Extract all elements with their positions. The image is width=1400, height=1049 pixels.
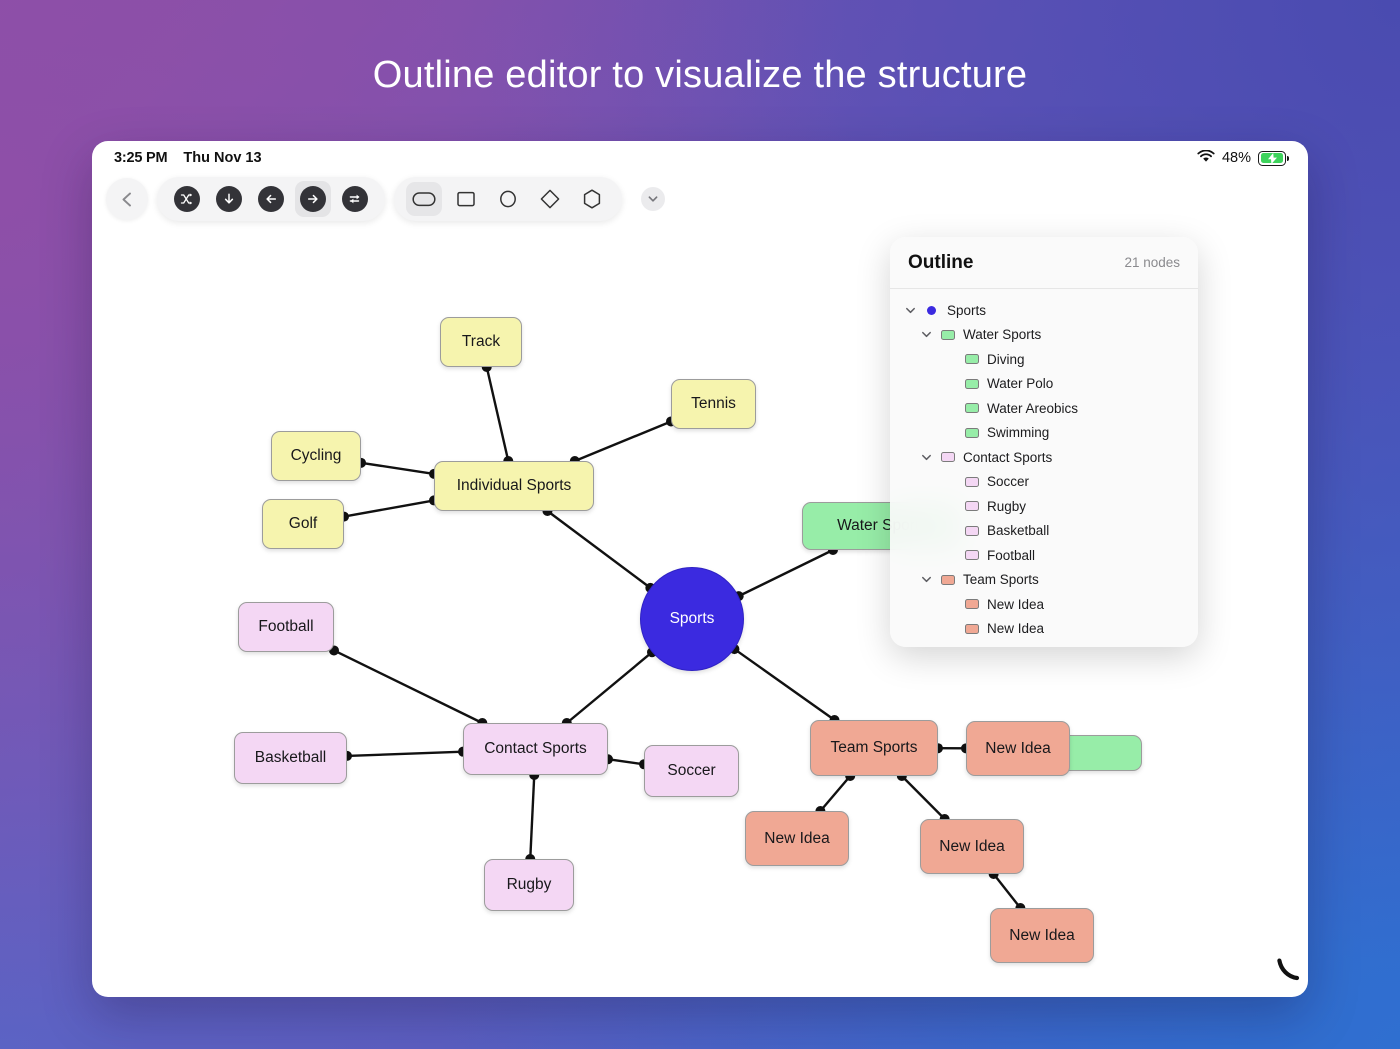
mindmap-node[interactable]: Sports [640, 567, 744, 671]
outline-color-swatch-icon [965, 501, 979, 511]
outline-title: Outline [908, 252, 973, 274]
outline-row-label: Water Areobics [987, 402, 1078, 416]
status-date: Thu Nov 13 [183, 150, 261, 166]
outline-row-label: Swimming [987, 426, 1049, 440]
outline-row-label: Contact Sports [963, 451, 1052, 465]
outline-color-swatch-icon [965, 526, 979, 536]
mindmap-node[interactable]: Team Sports [810, 720, 938, 776]
outline-color-swatch-icon [965, 477, 979, 487]
outline-node-count: 21 nodes [1124, 255, 1180, 270]
mindmap-node[interactable]: Basketball [234, 732, 347, 784]
outline-row-label: Water Sports [963, 328, 1041, 342]
outline-row[interactable]: Sports [890, 298, 1198, 323]
outline-color-swatch-icon [965, 354, 979, 364]
mindmap-edge [334, 650, 482, 723]
outline-color-swatch-icon [941, 330, 955, 340]
outline-color-swatch-icon [965, 599, 979, 609]
outline-row[interactable]: Water Polo [890, 372, 1198, 397]
outline-row-label: Water Polo [987, 377, 1053, 391]
mindmap-node[interactable]: Golf [262, 499, 344, 549]
mindmap-edge [547, 511, 650, 588]
chevron-down-icon[interactable] [904, 304, 917, 317]
mindmap-node[interactable]: Soccer [644, 745, 739, 797]
chevron-down-icon[interactable] [920, 328, 933, 341]
outline-row[interactable]: New Idea [890, 592, 1198, 617]
outline-row-label: Soccer [987, 475, 1029, 489]
battery-percent: 48% [1222, 150, 1251, 166]
outline-panel-header: Outline 21 nodes [890, 237, 1198, 289]
chevron-down-icon[interactable] [920, 573, 933, 586]
mindmap-edge [344, 500, 434, 516]
mindmap-edge [820, 776, 850, 811]
mindmap-edge [361, 463, 434, 474]
status-bar: 3:25 PM Thu Nov 13 48% [92, 141, 1308, 175]
mindmap-edge [575, 421, 671, 461]
mindmap-node[interactable]: New Idea [920, 819, 1024, 874]
battery-charging-icon [1258, 151, 1286, 166]
outline-row-label: New Idea [987, 622, 1044, 636]
outline-row-label: Sports [947, 304, 986, 318]
outline-row[interactable]: Contact Sports [890, 445, 1198, 470]
chevron-down-icon[interactable] [920, 451, 933, 464]
outline-color-swatch-icon [941, 575, 955, 585]
canvas-resize-handle[interactable] [1274, 956, 1300, 987]
mindmap-node[interactable]: Track [440, 317, 522, 367]
outline-row[interactable]: Basketball [890, 519, 1198, 544]
mindmap-node[interactable]: Rugby [484, 859, 574, 911]
mindmap-node[interactable]: Tennis [671, 379, 756, 429]
outline-row[interactable]: Team Sports [890, 568, 1198, 593]
mindmap-node[interactable]: Cycling [271, 431, 361, 481]
outline-row-label: Rugby [987, 500, 1026, 514]
mindmap-node[interactable]: New Idea [990, 908, 1094, 963]
mindmap-edge [530, 775, 534, 859]
mindmap-edge [487, 367, 509, 461]
mindmap-edge [567, 652, 652, 723]
mindmap-edge [902, 776, 945, 819]
outline-color-swatch-icon [965, 624, 979, 634]
outline-row[interactable]: New Idea [890, 617, 1198, 642]
outline-tree: SportsWater SportsDivingWater PoloWater … [890, 289, 1198, 641]
outline-row-label: Basketball [987, 524, 1049, 538]
mindmap-node[interactable]: Football [238, 602, 334, 652]
mindmap-edge [347, 752, 463, 756]
outline-color-swatch-icon [965, 379, 979, 389]
outline-row[interactable]: Diving [890, 347, 1198, 372]
outline-color-swatch-icon [965, 403, 979, 413]
outline-panel[interactable]: Outline 21 nodes SportsWater SportsDivin… [890, 237, 1198, 647]
outline-row[interactable]: Swimming [890, 421, 1198, 446]
outline-row-label: Team Sports [963, 573, 1039, 587]
outline-row[interactable]: Soccer [890, 470, 1198, 495]
wifi-icon [1197, 150, 1215, 167]
outline-row[interactable]: Football [890, 543, 1198, 568]
page-title: Outline editor to visualize the structur… [0, 54, 1400, 97]
outline-color-swatch-icon [965, 428, 979, 438]
outline-root-dot-icon [927, 306, 936, 315]
mindmap-edge [994, 874, 1021, 908]
mindmap-node[interactable]: Individual Sports [434, 461, 594, 511]
outline-row-label: New Idea [987, 598, 1044, 612]
mindmap-edge [608, 759, 644, 764]
mindmap-node[interactable]: Contact Sports [463, 723, 608, 775]
outline-color-swatch-icon [941, 452, 955, 462]
mindmap-node[interactable]: New Idea [745, 811, 849, 866]
mindmap-node[interactable]: New Idea [966, 721, 1070, 776]
status-time: 3:25 PM [114, 150, 167, 166]
outline-row[interactable]: Water Sports [890, 323, 1198, 348]
status-bar-left: 3:25 PM Thu Nov 13 [114, 150, 262, 166]
tablet-app-window: 3:25 PM Thu Nov 13 48% [92, 141, 1308, 997]
outline-color-swatch-icon [965, 550, 979, 560]
status-bar-right: 48% [1197, 150, 1286, 167]
outline-row-label: Football [987, 549, 1035, 563]
outline-row[interactable]: Water Areobics [890, 396, 1198, 421]
outline-row-label: Diving [987, 353, 1025, 367]
mindmap-canvas[interactable]: TrackTennisCyclingIndividual SportsGolfW… [92, 175, 1308, 997]
mindmap-edge [734, 649, 834, 720]
outline-row[interactable]: Rugby [890, 494, 1198, 519]
mindmap-edge [739, 550, 833, 596]
